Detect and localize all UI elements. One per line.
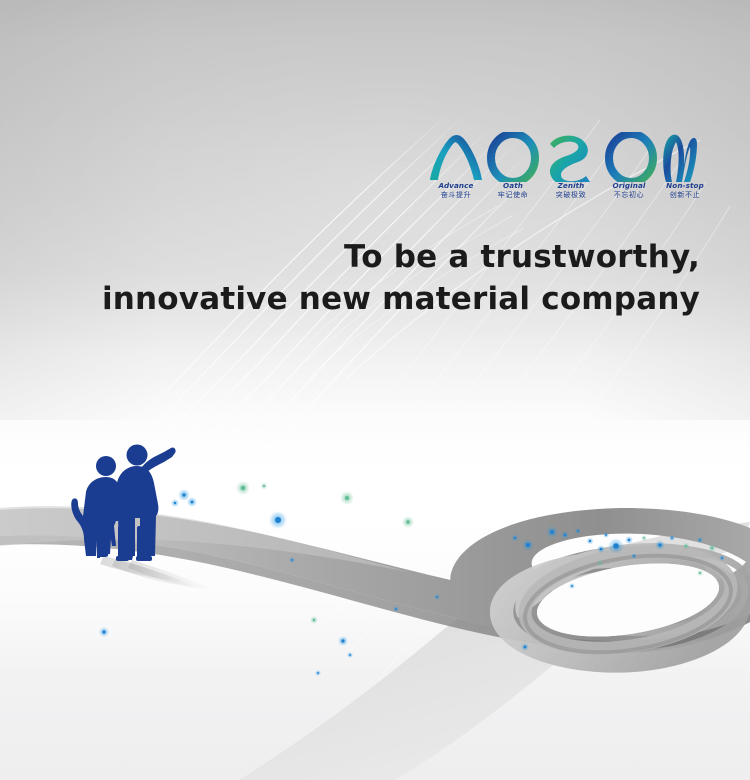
logo-tagline-advance: Advance 奋斗提升 <box>426 182 486 199</box>
particles-decoration <box>0 0 750 780</box>
logo-letterforms <box>426 132 698 182</box>
logo-tagline-advance-en: Advance <box>426 182 486 190</box>
logo-letter-n <box>663 135 697 182</box>
logo-tagline-original-cn: 不忘初心 <box>598 192 660 199</box>
logo-letter-o-1 <box>491 134 535 182</box>
logo-tagline-oath-en: Oath <box>484 182 542 190</box>
logo-tagline-zenith-en: Zenith <box>542 182 600 190</box>
logo-tagline-oath: Oath 牢记使命 <box>484 182 542 199</box>
aozon-logo[interactable]: Advance 奋斗提升 Oath 牢记使命 Zenith 突破极致 Origi… <box>426 132 698 210</box>
logo-tagline-original: Original 不忘初心 <box>598 182 660 199</box>
logo-letter-z <box>550 136 590 182</box>
logo-tagline-zenith-cn: 突破极致 <box>542 192 600 199</box>
logo-tagline-nonstop-en: Non-stop <box>654 182 716 190</box>
logo-tagline-advance-cn: 奋斗提升 <box>426 192 486 199</box>
logo-letter-o-2 <box>609 134 653 182</box>
logo-tagline-zenith: Zenith 突破极致 <box>542 182 600 199</box>
headline-line-2: innovative new material company <box>40 278 700 320</box>
aozon-brand-banner: Advance 奋斗提升 Oath 牢记使命 Zenith 突破极致 Origi… <box>0 0 750 780</box>
logo-taglines: Advance 奋斗提升 Oath 牢记使命 Zenith 突破极致 Origi… <box>426 182 698 210</box>
logo-tagline-original-en: Original <box>598 182 660 190</box>
logo-tagline-oath-cn: 牢记使命 <box>484 192 542 199</box>
logo-tagline-nonstop-cn: 创新不止 <box>654 192 716 199</box>
headline: To be a trustworthy, innovative new mate… <box>40 236 700 320</box>
logo-letter-a <box>430 135 482 180</box>
headline-line-1: To be a trustworthy, <box>40 236 700 278</box>
logo-tagline-nonstop: Non-stop 创新不止 <box>654 182 716 199</box>
